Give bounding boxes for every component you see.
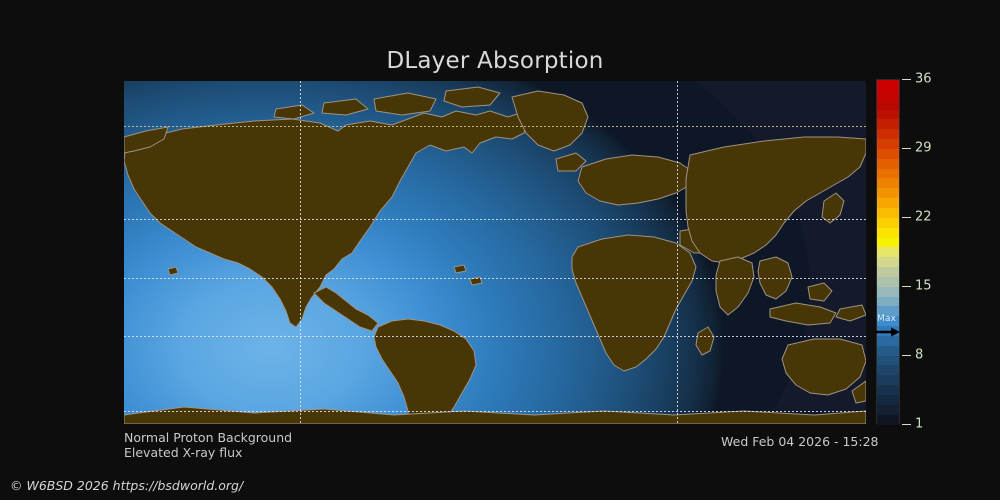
- colorbar-band: [877, 238, 899, 248]
- gridline-lon-60: [677, 81, 678, 424]
- colorbar-band: [877, 375, 899, 385]
- gridline-lat-60: [124, 126, 866, 127]
- colorbar-gradient: [876, 79, 900, 424]
- colorbar-tick-label: 29: [915, 142, 932, 155]
- colorbar-band: [877, 178, 899, 188]
- colorbar-tick: [902, 148, 911, 149]
- colorbar-tick: [902, 217, 911, 218]
- colorbar-band: [877, 306, 899, 316]
- colorbar-tick: [902, 286, 911, 287]
- colorbar-band: [877, 228, 899, 238]
- dlayer-absorption-page: DLayer Absorption: [0, 0, 1000, 500]
- gridline-lat--60: [124, 411, 866, 412]
- colorbar-band: [877, 159, 899, 169]
- colorbar-band: [877, 277, 899, 287]
- colorbar-band: [877, 415, 899, 425]
- colorbar-band: [877, 188, 899, 198]
- colorbar: Max 3629221581: [876, 79, 900, 424]
- gridline-lat-0: [124, 278, 866, 279]
- colorbar-tick: [902, 79, 911, 80]
- world-map: [124, 81, 866, 424]
- colorbar-band: [877, 149, 899, 159]
- colorbar-band: [877, 257, 899, 267]
- status-note-xray: Elevated X-ray flux: [124, 445, 242, 460]
- colorbar-axis-label: Affected Frequency (MHz): [905, 79, 1000, 424]
- colorbar-band: [877, 385, 899, 395]
- map-layers: [124, 81, 866, 424]
- colorbar-band: [877, 100, 899, 110]
- gridline-lat-30: [124, 219, 866, 220]
- colorbar-band: [877, 346, 899, 356]
- colorbar-tick-label: 1: [915, 418, 923, 431]
- colorbar-band: [877, 395, 899, 405]
- colorbar-band: [877, 316, 899, 326]
- colorbar-tick-label: 22: [915, 211, 932, 224]
- map-plot-area: [124, 81, 866, 424]
- colorbar-band: [877, 326, 899, 336]
- colorbar-tick-label: 36: [915, 73, 932, 86]
- colorbar-band: [877, 356, 899, 366]
- colorbar-tick: [902, 424, 911, 425]
- colorbar-band: [877, 297, 899, 307]
- colorbar-band: [877, 110, 899, 120]
- colorbar-band: [877, 247, 899, 257]
- colorbar-band: [877, 218, 899, 228]
- colorbar-band: [877, 208, 899, 218]
- page-title: DLayer Absorption: [0, 48, 990, 74]
- colorbar-band: [877, 80, 899, 90]
- colorbar-band: [877, 169, 899, 179]
- colorbar-band: [877, 336, 899, 346]
- colorbar-band: [877, 198, 899, 208]
- colorbar-band: [877, 287, 899, 297]
- gridline-lat--30: [124, 336, 866, 337]
- colorbar-band: [877, 365, 899, 375]
- timestamp: Wed Feb 04 2026 - 15:28: [721, 434, 879, 449]
- colorbar-band: [877, 129, 899, 139]
- colorbar-band: [877, 119, 899, 129]
- colorbar-tick: [902, 355, 911, 356]
- colorbar-tick-label: 15: [915, 280, 932, 293]
- status-note-proton: Normal Proton Background: [124, 430, 292, 445]
- colorbar-band: [877, 90, 899, 100]
- colorbar-band: [877, 267, 899, 277]
- colorbar-band: [877, 139, 899, 149]
- colorbar-tick-label: 8: [915, 349, 923, 362]
- colorbar-band: [877, 405, 899, 415]
- gridline-lon--60: [300, 81, 301, 424]
- copyright-notice: © W6BSD 2026 https://bsdworld.org/: [10, 478, 243, 493]
